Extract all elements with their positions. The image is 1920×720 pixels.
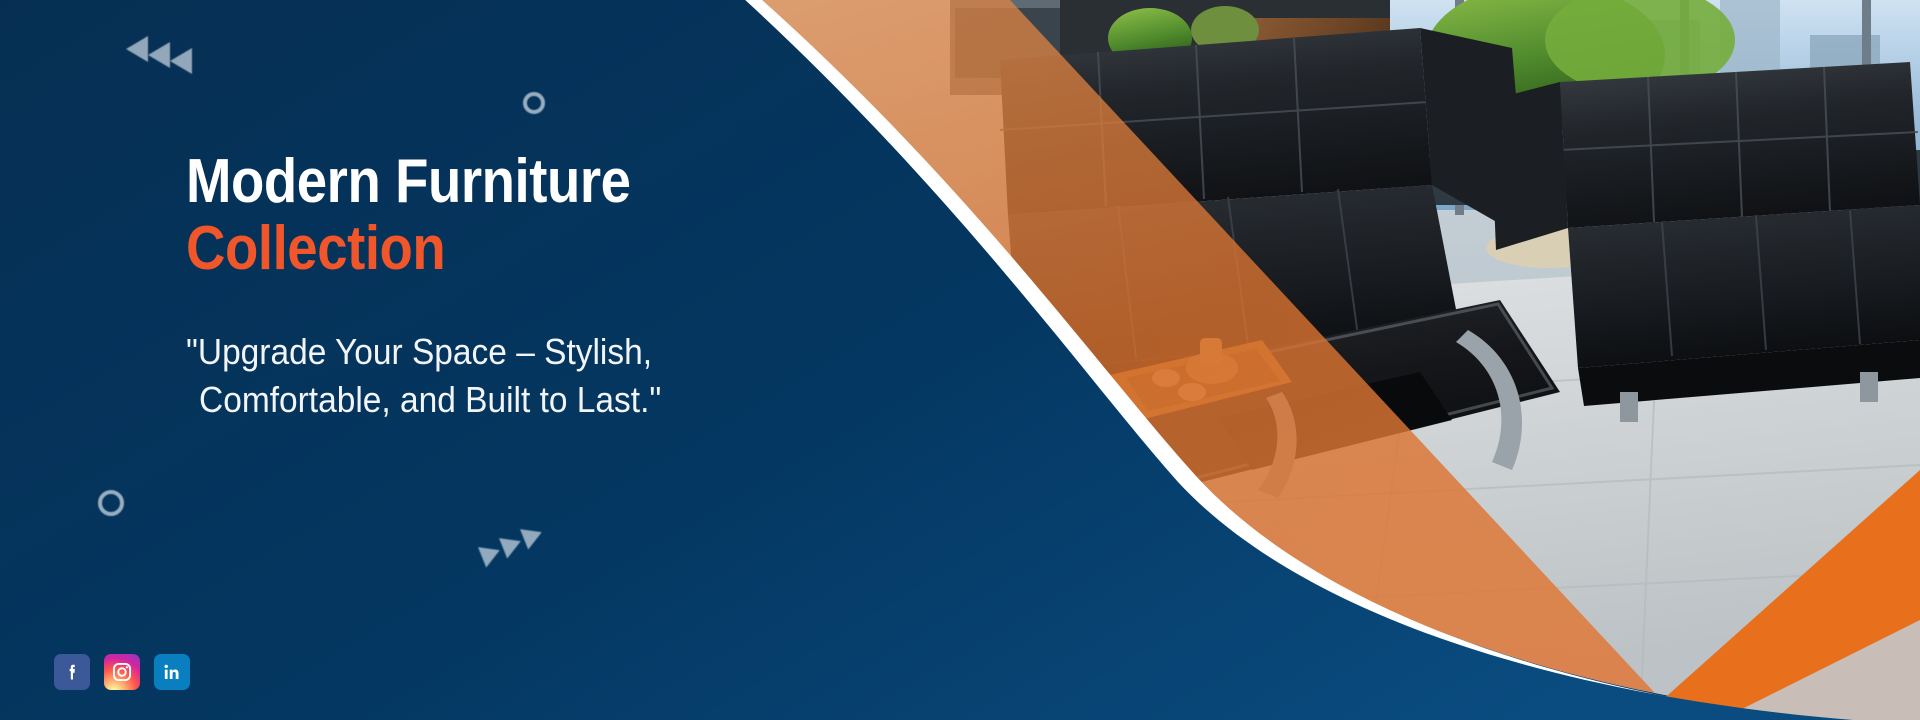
hero-banner: Modern Furniture Collection "Upgrade You… [0, 0, 1920, 720]
page-title-line1: Modern Furniture [186, 150, 784, 213]
social-links [54, 654, 190, 690]
hero-copy: Modern Furniture Collection "Upgrade You… [186, 150, 866, 424]
facebook-icon[interactable] [54, 654, 90, 690]
linkedin-icon[interactable] [154, 654, 190, 690]
tagline-line1: "Upgrade Your Space – Stylish, [186, 328, 818, 376]
tagline-line2: Comfortable, and Built to Last." [186, 376, 818, 424]
instagram-icon[interactable] [104, 654, 140, 690]
page-title-line2: Collection [186, 217, 784, 280]
tagline: "Upgrade Your Space – Stylish, Comfortab… [186, 328, 818, 423]
